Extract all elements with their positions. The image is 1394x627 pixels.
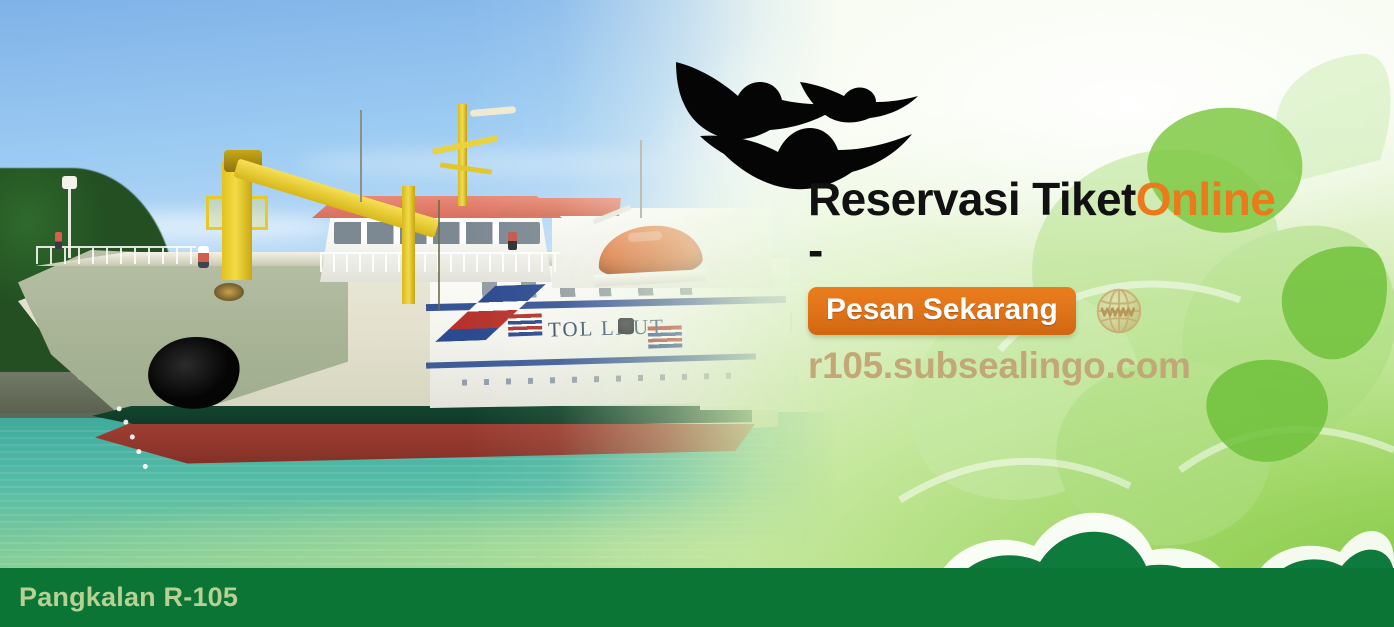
promotional-banner: TOL LAUT [0, 0, 1394, 627]
headline-main-text: Reservasi Tiket [808, 173, 1136, 225]
headline-dash: - [808, 227, 1368, 273]
www-globe-icon [1090, 283, 1148, 339]
bottom-bar: Pangkalan R-105 [0, 568, 1394, 627]
page-title: Reservasi TiketOnline [808, 176, 1368, 223]
pesan-sekarang-button[interactable]: Pesan Sekarang [808, 287, 1076, 335]
cta-row: Pesan Sekarang [808, 283, 1368, 339]
promo-text-block: Reservasi TiketOnline - Pesan Sekarang [808, 176, 1368, 387]
website-url[interactable]: r105.subsealingo.com [808, 345, 1368, 387]
bottom-bar-title: Pangkalan R-105 [19, 582, 238, 613]
headline-accent-text: Online [1136, 173, 1276, 225]
